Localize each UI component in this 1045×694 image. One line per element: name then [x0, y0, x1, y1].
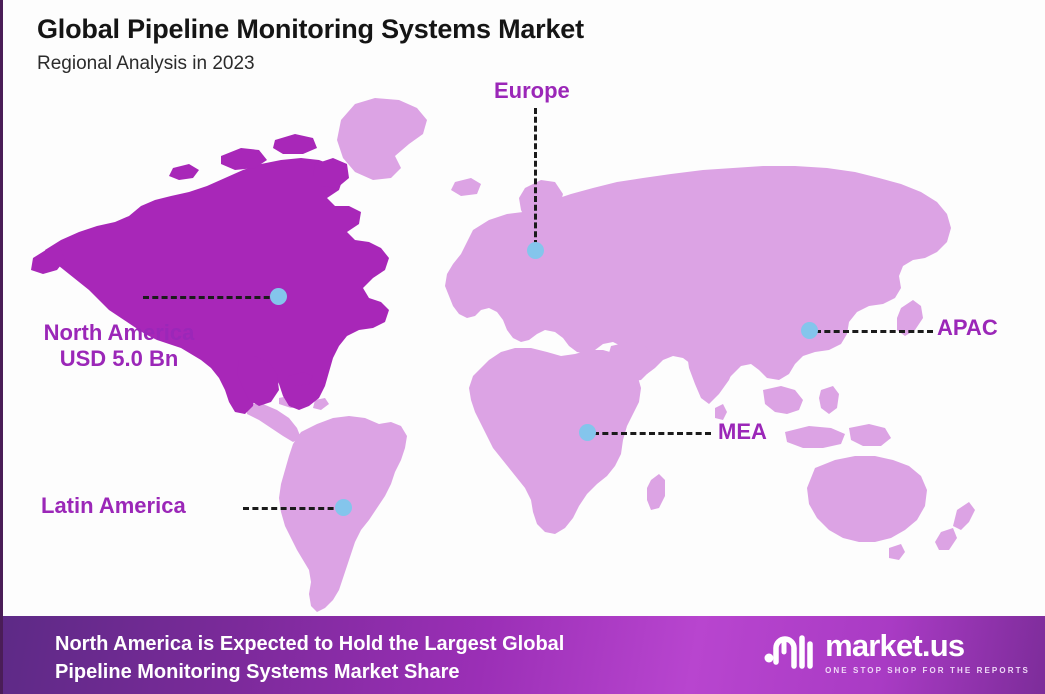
region-india [687, 338, 735, 404]
region-sri-lanka [715, 404, 727, 420]
region-label-europe: Europe [494, 78, 570, 104]
map-marker-europe[interactable] [527, 242, 544, 259]
region-label-north-america-name: North America [21, 320, 217, 346]
map-marker-mea[interactable] [579, 424, 596, 441]
connector-mea [593, 432, 711, 435]
connector-north-america [143, 296, 279, 299]
region-greenland [337, 98, 427, 180]
region-label-mea: MEA [718, 419, 767, 445]
region-label-europe-text: Europe [494, 78, 570, 104]
region-label-apac: APAC [937, 315, 998, 341]
region-indonesia-1 [785, 426, 845, 448]
region-tasmania [889, 544, 905, 560]
region-southeast-asia [763, 386, 803, 414]
footer-headline: North America is Expected to Hold the La… [55, 630, 755, 687]
connector-apac [815, 330, 933, 333]
region-label-apac-text: APAC [937, 315, 998, 341]
region-label-mea-text: MEA [718, 419, 767, 445]
connector-latin-america [243, 507, 343, 510]
header: Global Pipeline Monitoring Systems Marke… [37, 14, 584, 75]
market-us-logo[interactable]: market.us ONE STOP SHOP FOR THE REPORTS [762, 628, 1030, 677]
region-africa [469, 348, 641, 534]
connector-europe [534, 108, 537, 246]
footer-headline-line1: North America is Expected to Hold the La… [55, 633, 564, 655]
region-new-zealand [953, 502, 975, 530]
region-arctic-islands-2 [273, 134, 317, 154]
footer-headline-line2: Pipeline Monitoring Systems Market Share [55, 661, 460, 683]
region-north-america [45, 158, 389, 414]
page-subtitle: Regional Analysis in 2023 [37, 53, 584, 75]
map-marker-apac[interactable] [801, 322, 818, 339]
region-madagascar [647, 474, 665, 510]
region-new-zealand-2 [935, 528, 957, 550]
region-arctic-islands-3 [169, 164, 199, 180]
infographic-page: Global Pipeline Monitoring Systems Marke… [0, 0, 1045, 694]
page-title: Global Pipeline Monitoring Systems Marke… [37, 14, 584, 45]
logo-tagline: ONE STOP SHOP FOR THE REPORTS [825, 666, 1030, 675]
map-marker-north-america[interactable] [270, 288, 287, 305]
region-central-america [247, 404, 301, 442]
region-label-latin-america-text: Latin America [41, 493, 186, 519]
logo-wordmark: market.us [825, 630, 1030, 661]
region-philippines [819, 386, 839, 414]
footer-banner: North America is Expected to Hold the La… [3, 616, 1045, 694]
region-iceland [451, 178, 481, 196]
map-marker-latin-america[interactable] [335, 499, 352, 516]
region-indonesia-2 [849, 424, 891, 446]
region-label-north-america-value: USD 5.0 Bn [21, 346, 217, 372]
region-alaska [31, 248, 65, 274]
map-regions-highlight [31, 134, 389, 414]
map-regions-default [247, 98, 975, 612]
logo-text-block: market.us ONE STOP SHOP FOR THE REPORTS [825, 630, 1030, 675]
region-australia [807, 456, 927, 542]
region-label-north-america: North America USD 5.0 Bn [21, 320, 217, 372]
market-us-logomark-icon [762, 628, 816, 677]
region-label-latin-america: Latin America [41, 493, 186, 519]
